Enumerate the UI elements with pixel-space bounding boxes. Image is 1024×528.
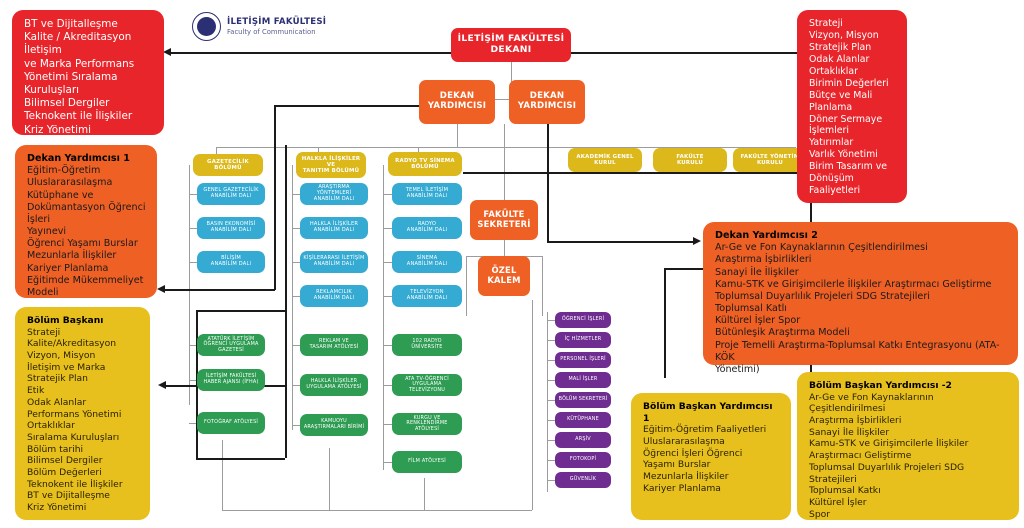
panel-line: Kamu-STK ve Girişimcilerle İlişkiler Ara… (715, 279, 1008, 291)
node-division-0-2[interactable]: BİLİŞİMANABİLİM DALI (197, 251, 265, 273)
panel-line: İletişim ve Marka (27, 362, 140, 374)
connector (547, 312, 548, 492)
panel-line: Dokümantasyon Öğrenci (27, 202, 147, 214)
node-council-1[interactable]: FAKÜLTEKURULU (653, 148, 727, 172)
panel-line: Kriz Yönetimi (24, 124, 154, 137)
panel-line: Sanayi İle İlişkiler (809, 427, 1009, 439)
node-admin-3[interactable]: MALİ İŞLER (555, 372, 611, 388)
node-label: AKADEMİK GENELKURUL (570, 154, 640, 166)
node-division-1-3[interactable]: REKLAMCILIKANABİLİM DALI (300, 285, 368, 307)
panel-line: Proje Temelli Araştırma-Toplumsal Katkı … (715, 340, 1008, 364)
node-admin-2[interactable]: PERSONEL İŞLERİ (555, 352, 611, 368)
panel-line: Araştırmacı Geliştirme (809, 450, 1009, 462)
node-unit-2-0[interactable]: 102 RADYOÜNİVERSİTE (392, 334, 462, 356)
node-label: TEMEL İLETİŞİMANABİLİM DALI (394, 188, 460, 200)
node-label: BÖLÜM SEKRETERİ (557, 397, 609, 403)
panel-line: Kariyer Planlama (643, 483, 781, 495)
panel-line: Eğitim-Öğretim (27, 165, 147, 177)
node-unit-0-0[interactable]: ATATÜRK İLETİŞİMÖĞRENCİ UYGULAMA GAZETES… (197, 334, 265, 356)
panel-line: Birim Tasarım ve (809, 161, 897, 173)
panel-line: ve Marka Performans (24, 58, 154, 71)
panel-line: Stratejik Plan (27, 373, 140, 385)
node-admin-6[interactable]: ARŞİV (555, 432, 611, 448)
node-label: DEKANYARDIMCISI (511, 92, 583, 112)
panel-line: Öğrenci Yaşamı Burslar (27, 238, 147, 250)
node-label: PERSONEL İŞLERİ (557, 357, 609, 363)
arrow-left-icon (163, 48, 171, 56)
node-label: SİNEMAANABİLİM DALI (394, 256, 460, 268)
node-label: KİŞİLERARASI İLETİŞİMANABİLİM DALI (302, 256, 366, 268)
connector (292, 165, 293, 330)
connector (222, 440, 223, 510)
connector (547, 380, 555, 381)
panel-line: BT ve Dijitalleşme (27, 490, 140, 502)
node-label: TELEVİZYONANABİLİM DALI (394, 290, 460, 302)
connector (547, 460, 555, 461)
panel-line: Kriz Yönetimi (27, 502, 140, 514)
connector (532, 300, 533, 510)
logo-title-en: Faculty of Communication (227, 28, 326, 36)
node-council-0[interactable]: AKADEMİK GENELKURUL (568, 148, 642, 172)
node-label: FOTOĞRAF ATÖLYESİ (199, 420, 263, 426)
connector (547, 480, 555, 481)
node-label: GÜVENLİK (557, 477, 609, 483)
panel-line: Spor (809, 509, 1009, 521)
connector (222, 510, 532, 511)
node-label: İÇ HİZMETLER (557, 337, 609, 343)
node-label: ARŞİV (557, 437, 609, 443)
connector-dark (274, 105, 419, 107)
node-label: REKLAMCILIKANABİLİM DALI (302, 290, 366, 302)
panel-deputy-head-1: Bölüm Başkan Yardımcısı 1Eğitim-Öğretim … (631, 393, 791, 520)
node-label: FİLM ATÖLYESİ (394, 459, 460, 465)
panel-line: Yaşamı Burslar (643, 459, 781, 471)
node-division-2-3[interactable]: TELEVİZYONANABİLİM DALI (392, 285, 462, 307)
panel-top-left: BT ve DijitalleşmeKalite / Akreditasyon … (12, 10, 164, 135)
panel-line: Vizyon, Misyon (27, 350, 140, 362)
arrow-left-icon (157, 285, 165, 293)
logo-title-tr: İLETİŞİM FAKÜLTESİ (227, 17, 326, 27)
connector-dark (547, 241, 695, 243)
connector (547, 360, 555, 361)
connector-dark (196, 458, 285, 460)
node-label: FAKÜLTEKURULU (655, 154, 725, 166)
panel-line: Kültürel İşler (809, 497, 1009, 509)
connector-dark (664, 268, 666, 378)
panel-line: Teknokent ile İlişkiler (27, 479, 140, 491)
connector-dark (285, 145, 287, 458)
panel-line: Ar-Ge ve Fon Kaynaklarının Çeşitlendiril… (715, 242, 1008, 254)
connector (547, 320, 555, 321)
panel-line: Yatırımlar (809, 137, 897, 149)
panel-line: Sanayi İle İlişkiler (715, 267, 1008, 279)
node-unit-2-1[interactable]: ATA TV-ÖĞRENCİUYGULAMA TELEVİZYONU (392, 374, 462, 396)
panel-line: Bilimsel Dergiler (27, 455, 140, 467)
panel-line: Sıralama Kuruluşları (27, 432, 140, 444)
node-division-2-0[interactable]: TEMEL İLETİŞİMANABİLİM DALI (392, 183, 462, 205)
panel-vice-dean-2: Dekan Yardımcısı 2Ar-Ge ve Fon Kaynaklar… (703, 222, 1018, 365)
node-label: KAMUOYUARAŞTIRMALARI BİRİMİ (302, 419, 366, 430)
node-label: GENEL GAZETECİLİKANABİLİM DALI (199, 188, 263, 200)
node-admin-7[interactable]: FOTOKOPİ (555, 452, 611, 468)
node-label: İLETİŞİM FAKÜLTESİHABER AJANSI (İFHA) (199, 374, 263, 385)
connector-dark (547, 124, 549, 242)
panel-line: Teknokent ile İlişkiler (24, 110, 154, 123)
connector (329, 448, 330, 510)
node-label: HALKLA İLİŞKİLERUYGULAMA ATÖLYESİ (302, 379, 366, 390)
node-unit-1-1[interactable]: HALKLA İLİŞKİLERUYGULAMA ATÖLYESİ (300, 374, 368, 396)
node-private-office[interactable]: ÖZELKALEM (478, 256, 530, 296)
panel-head-of-department: Bölüm BaşkanıStratejiKalite/Akreditasyon… (15, 307, 150, 520)
node-label: RADYOANABİLİM DALI (394, 222, 460, 234)
panel-line: Ortaklıklar (809, 66, 897, 78)
panel-title: Bölüm Başkanı (27, 315, 140, 327)
panel-title: Dekan Yardımcısı 2 (715, 230, 1008, 242)
panel-line: Bütçe ve Mali (809, 90, 897, 102)
node-label: 102 RADYOÜNİVERSİTE (394, 339, 460, 350)
node-dean[interactable]: İLETİŞİM FAKÜLTESİDEKANI (451, 28, 571, 62)
node-division-1-2[interactable]: KİŞİLERARASI İLETİŞİMANABİLİM DALI (300, 251, 368, 273)
connector (189, 295, 190, 405)
connector (547, 420, 555, 421)
node-label: DEKANYARDIMCISI (421, 92, 493, 112)
connector-dark (560, 52, 800, 54)
panel-line: Birimin Değerleri (809, 78, 897, 90)
panel-line: Araştırma İşbirlikleri (715, 254, 1008, 266)
panel-line: Vizyon, Misyon (809, 30, 897, 42)
panel-line: Döner Sermaye (809, 114, 897, 126)
faculty-logo: İLETİŞİM FAKÜLTESİ Faculty of Communicat… (192, 12, 326, 41)
panel-line: Dönüşüm (809, 173, 897, 185)
node-label: GAZETECİLİK BÖLÜMÜ (195, 159, 261, 171)
panel-line: Toplumsal Duyarlılık Projeleri SDG (809, 462, 1009, 474)
connector (547, 340, 555, 341)
panel-line: Eğitim-Öğretim Faaliyetleri (643, 424, 781, 436)
node-label: HALKLA İLİŞKİLERANABİLİM DALI (302, 222, 366, 234)
connector-dark (165, 289, 275, 291)
node-admin-4[interactable]: BÖLÜM SEKRETERİ (555, 392, 611, 408)
node-department-0[interactable]: GAZETECİLİK BÖLÜMÜ (193, 154, 263, 176)
node-label: FOTOKOPİ (557, 457, 609, 463)
panel-line: Mezunlarla İlişkiler (643, 471, 781, 483)
panel-line: Bölüm tarihi (27, 444, 140, 456)
panel-line: Toplumsal Katkı (809, 485, 1009, 497)
node-label: BASIN EKONOMİSİANABİLİM DALI (199, 222, 263, 234)
arrow-left-icon (158, 381, 166, 389)
panel-line: Performans Yönetimi (27, 409, 140, 421)
arrow-right-icon (693, 237, 701, 245)
node-division-1-1[interactable]: HALKLA İLİŞKİLERANABİLİM DALI (300, 217, 368, 239)
panel-deputy-head-2: Bölüm Başkan Yardımcısı -2Ar-Ge ve Fon K… (797, 372, 1019, 520)
node-admin-8[interactable]: GÜVENLİK (555, 472, 611, 488)
node-label: ATATÜRK İLETİŞİMÖĞRENCİ UYGULAMA GAZETES… (199, 337, 263, 354)
panel-title: Dekan Yardımcısı 1 (27, 153, 147, 165)
node-division-0-0[interactable]: GENEL GAZETECİLİKANABİLİM DALI (197, 183, 265, 205)
node-label: REKLAM VETASARIM ATÖLYESİ (302, 339, 366, 350)
panel-line: Kalite / Akreditasyon İletişim (24, 31, 154, 57)
connector (424, 478, 425, 510)
panel-line: Yayınevi (27, 226, 147, 238)
connector-dark (196, 310, 285, 312)
connector-dark (463, 172, 811, 174)
logo-text: İLETİŞİM FAKÜLTESİ Faculty of Communicat… (227, 17, 326, 35)
panel-line: Bütünleşik Araştırma Modeli (715, 327, 1008, 339)
node-label: RADYO TV SİNEMABÖLÜMÜ (390, 158, 460, 170)
panel-line: Kütüphane ve (27, 190, 147, 202)
node-unit-1-2[interactable]: KAMUOYUARAŞTIRMALARI BİRİMİ (300, 414, 368, 436)
node-label: ÖZELKALEM (480, 266, 528, 285)
panel-line: Faaliyetleri (809, 185, 897, 197)
node-label: BİLİŞİMANABİLİM DALI (199, 256, 263, 268)
node-unit-2-2[interactable]: KURGU VERENKLENDİRME ATÖLYESİ (392, 413, 462, 435)
org-chart: İLETİŞİM FAKÜLTESİ Faculty of Communicat… (0, 0, 1024, 528)
node-label: ÖĞRENCİ İŞLERİ (557, 317, 609, 323)
node-division-2-1[interactable]: RADYOANABİLİM DALI (392, 217, 462, 239)
panel-line: İşleri (27, 214, 147, 226)
connector (466, 256, 467, 316)
panel-line: Öğrenci İşleri Öğrenci (643, 448, 781, 460)
panel-line: Odak Alanlar (27, 397, 140, 409)
node-division-1-0[interactable]: ARAŞTIRMA YÖNTEMLERİANABİLİM DALI (300, 183, 368, 205)
node-vice-dean-2[interactable]: DEKANYARDIMCISI (509, 80, 585, 124)
panel-title: Bölüm Başkan Yardımcısı -2 (809, 380, 1009, 392)
node-admin-0[interactable]: ÖĞRENCİ İŞLERİ (555, 312, 611, 328)
node-label: FAKÜLTESEKRETERİ (472, 210, 536, 229)
panel-line: Ortaklıklar (27, 420, 140, 432)
panel-line: Kariyer Planlama (27, 263, 147, 275)
connector (504, 124, 505, 200)
panel-line: İşlemleri (809, 125, 897, 137)
node-department-2[interactable]: RADYO TV SİNEMABÖLÜMÜ (388, 152, 462, 176)
connector (189, 165, 190, 295)
connector (542, 256, 543, 316)
node-label: KURGU VERENKLENDİRME ATÖLYESİ (394, 416, 460, 433)
panel-line: Bölüm Değerleri (27, 467, 140, 479)
node-label: ARAŞTIRMA YÖNTEMLERİANABİLİM DALI (302, 185, 366, 203)
panel-line: Eğitimde Mükemmeliyet (27, 275, 147, 287)
panel-line: Kalite/Akreditasyon (27, 338, 140, 350)
panel-line: Etik (27, 385, 140, 397)
panel-line: Kültürel İşler Spor (715, 315, 1008, 327)
node-council-2[interactable]: FAKÜLTE YÖNETİMKURULU (733, 148, 807, 172)
panel-line: Varlık Yönetimi (809, 149, 897, 161)
panel-line: Yönetimi Sıralama Kuruluşları (24, 71, 154, 97)
node-label: HALKLA İLİŞKİLER VETANITIM BÖLÜMÜ (298, 156, 364, 175)
node-unit-2-3[interactable]: FİLM ATÖLYESİ (392, 451, 462, 473)
connector (457, 124, 458, 147)
node-admin-5[interactable]: KÜTÜPHANE (555, 412, 611, 428)
panel-line: Araştırma İşbirlikleri (809, 415, 1009, 427)
connector (383, 330, 384, 470)
panel-line: Ar-Ge ve Fon Kaynaklarının Çeşitlendiril… (809, 392, 1009, 415)
panel-line: Toplumsal Duyarlılık Projeleri SDG Strat… (715, 291, 1008, 303)
panel-vice-dean-1: Dekan Yardımcısı 1Eğitim-ÖğretimUluslara… (15, 145, 157, 298)
panel-line: Modeli (27, 287, 147, 299)
node-unit-1-0[interactable]: REKLAM VETASARIM ATÖLYESİ (300, 334, 368, 356)
node-label: ATA TV-ÖĞRENCİUYGULAMA TELEVİZYONU (394, 377, 460, 394)
panel-line: Kamu-STK ve Girişimcilerle İlişkiler (809, 438, 1009, 450)
node-division-0-1[interactable]: BASIN EKONOMİSİANABİLİM DALI (197, 217, 265, 239)
connector-dark (274, 105, 276, 290)
panel-line: Strateji (27, 327, 140, 339)
node-admin-1[interactable]: İÇ HİZMETLER (555, 332, 611, 348)
node-faculty-secretary[interactable]: FAKÜLTESEKRETERİ (470, 200, 538, 240)
node-unit-0-1[interactable]: İLETİŞİM FAKÜLTESİHABER AJANSI (İFHA) (197, 369, 265, 391)
node-unit-0-2[interactable]: FOTOĞRAF ATÖLYESİ (197, 412, 265, 434)
connector (547, 440, 555, 441)
panel-line: Bilimsel Dergiler (24, 97, 154, 110)
panel-line: Mezunlarla İlişkiler (27, 250, 147, 262)
panel-line: Stratejileri (809, 474, 1009, 486)
panel-line: Stratejik Plan (809, 42, 897, 54)
panel-line: Uluslararasılaşma (643, 436, 781, 448)
panel-top-right: StratejiVizyon, MisyonStratejik PlanOdak… (797, 10, 907, 203)
node-label: MALİ İŞLER (557, 377, 609, 383)
connector (547, 400, 555, 401)
panel-line: Planlama (809, 102, 897, 114)
panel-line: Uluslararasılaşma (27, 177, 147, 189)
panel-line: BT ve Dijitalleşme (24, 18, 154, 31)
node-department-1[interactable]: HALKLA İLİŞKİLER VETANITIM BÖLÜMÜ (296, 152, 366, 178)
node-label: İLETİŞİM FAKÜLTESİDEKANI (453, 34, 569, 55)
panel-title: Bölüm Başkan Yardımcısı 1 (643, 401, 781, 424)
connector (383, 165, 384, 330)
panel-line: Odak Alanlar (809, 54, 897, 66)
node-vice-dean-1[interactable]: DEKANYARDIMCISI (419, 80, 495, 124)
panel-line: Strateji (809, 18, 897, 30)
node-label: KÜTÜPHANE (557, 417, 609, 423)
panel-line: Toplumsal Katlı (715, 303, 1008, 315)
node-division-2-2[interactable]: SİNEMAANABİLİM DALI (392, 251, 462, 273)
university-seal-icon (192, 12, 221, 41)
node-label: FAKÜLTE YÖNETİMKURULU (735, 154, 805, 166)
